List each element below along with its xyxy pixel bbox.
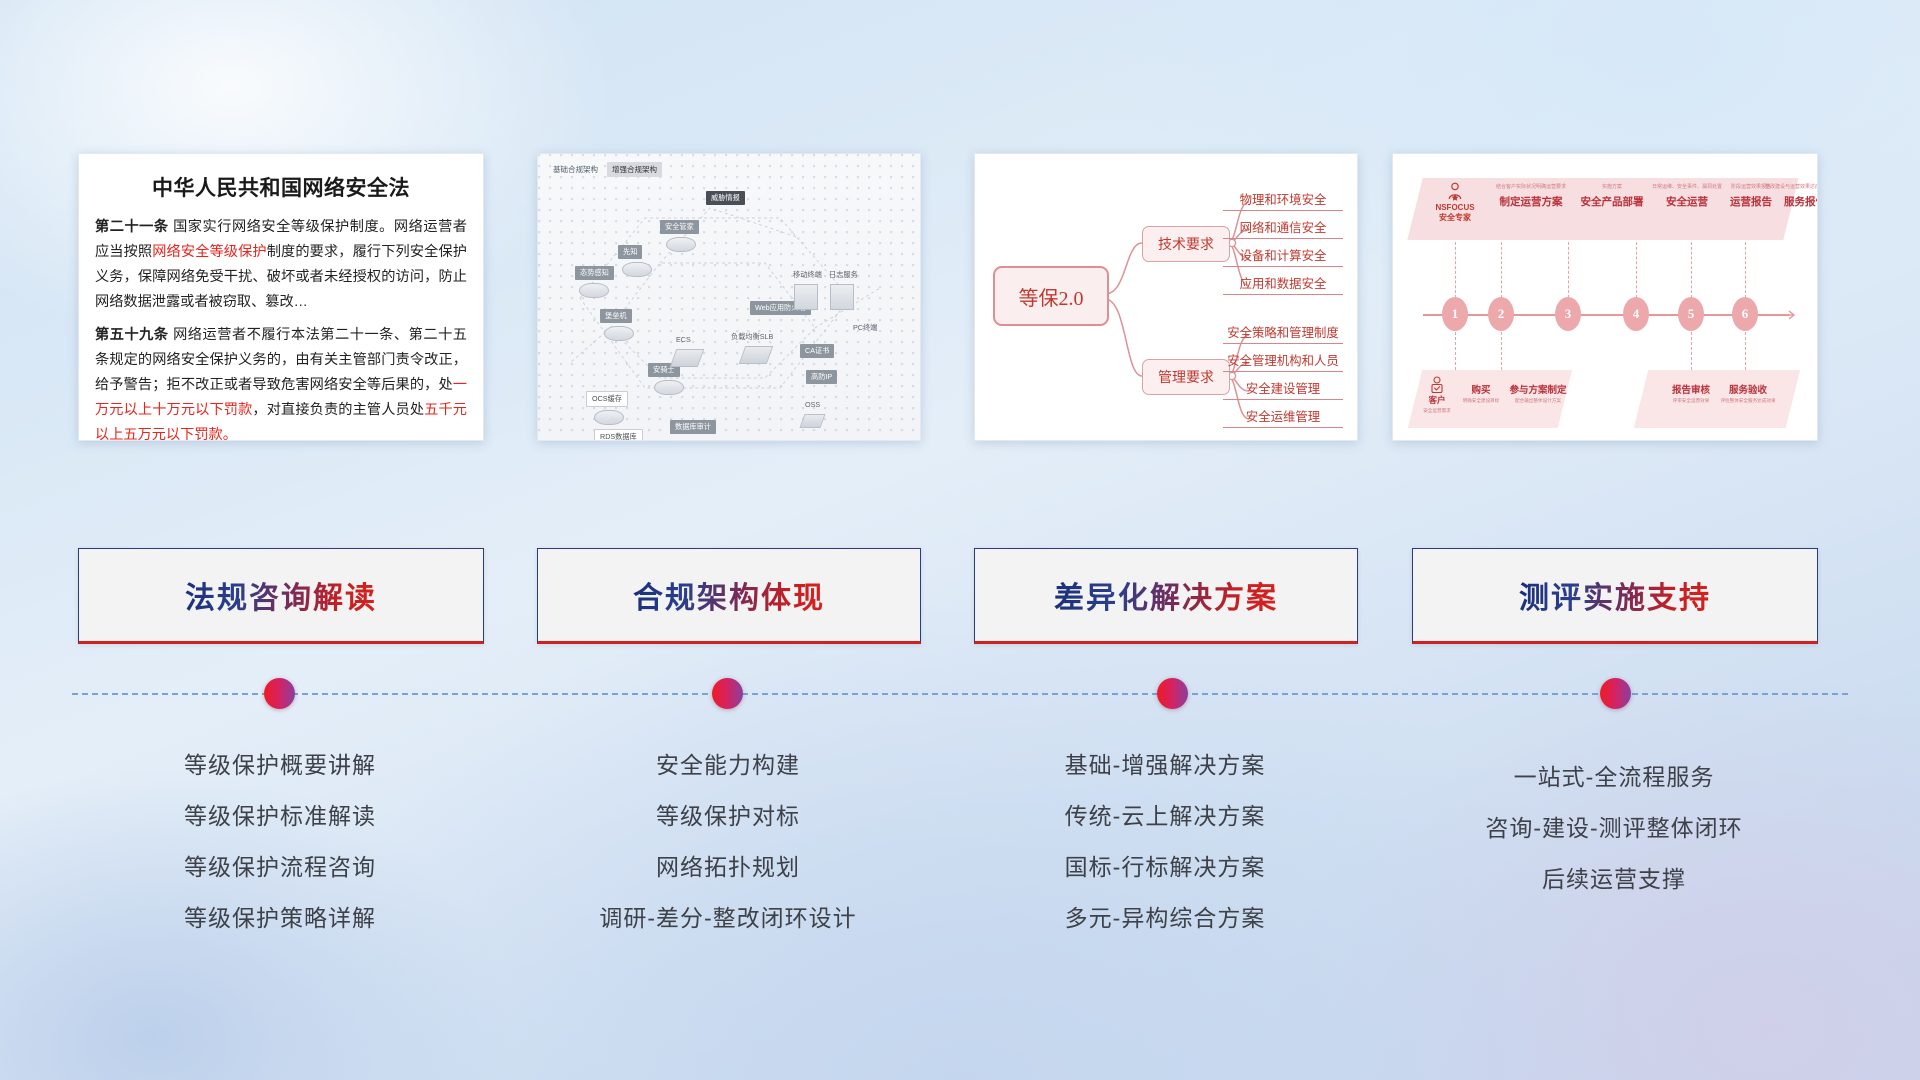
bullet-column-4: 一站式-全流程服务 咨询-建设-测评整体闭环 后续运营支撑 xyxy=(1412,752,1816,905)
list-item: 一站式-全流程服务 xyxy=(1412,752,1816,803)
nsfocus-tie xyxy=(1745,242,1747,298)
arch-node-db-audit: 数据库审计 xyxy=(670,416,716,434)
bullet-column-3: 基础-增强解决方案 传统-云上解决方案 国标-行标解决方案 多元-异构综合方案 xyxy=(974,740,1356,944)
arch-node-log-service: 日志服务 xyxy=(824,264,863,310)
arch-node-ocs-cache: OCS缓存 xyxy=(586,388,628,425)
customer-person-icon xyxy=(1429,376,1445,394)
nsfocus-tray-item: 购买 明确安全建设目标 xyxy=(1455,382,1507,404)
timeline-dot-3 xyxy=(1157,678,1188,709)
arch-node-ca-cert: CA证书 xyxy=(800,340,834,358)
nsfocus-step-dot: 2 xyxy=(1488,297,1514,331)
arch-node-rds-db: RDS数据库 xyxy=(594,426,643,441)
law-paragraph-1: 第二十一条 国家实行网络安全等级保护制度。网络运营者应当按照网络安全等级保护制度… xyxy=(95,215,467,315)
list-item: 调研-差分-整改闭环设计 xyxy=(537,893,919,944)
list-item: 国标-行标解决方案 xyxy=(974,842,1356,893)
nsfocus-tie xyxy=(1691,332,1693,370)
nsfocus-tie xyxy=(1455,332,1457,370)
arch-node-pc-terminal: PC终端 xyxy=(848,317,882,335)
nsfocus-band-step: 整改建设与运营效果达成目标运营效果 服务报告 xyxy=(1765,184,1818,209)
law-article-number: 第二十一条 xyxy=(95,219,169,235)
mindmap-leaf: 安全策略和管理制度 xyxy=(1223,323,1343,344)
mindmap-leaf: 安全建设管理 xyxy=(1223,379,1343,400)
nsfocus-step-dot: 5 xyxy=(1678,297,1704,331)
card-mindmap: 等保2.0 技术要求 管理要求 物理和环境安全 网络和通信安全 设备和计算安全 … xyxy=(974,153,1358,441)
law-article-number: 第五十九条 xyxy=(95,327,169,343)
timeline-dot-2 xyxy=(712,678,743,709)
arch-node-threat-intel: 威胁情报 xyxy=(706,187,745,205)
title-label-2: 合规架构体现 xyxy=(633,573,825,617)
law-body-text: ，对直接负责的主管人员处 xyxy=(252,402,424,418)
mindmap-leaf: 应用和数据安全 xyxy=(1223,274,1343,295)
mindmap-root-node: 等保2.0 xyxy=(993,266,1109,326)
mindmap-canvas: 等保2.0 技术要求 管理要求 物理和环境安全 网络和通信安全 设备和计算安全 … xyxy=(975,154,1357,440)
list-item: 网络拓扑规划 xyxy=(537,842,919,893)
title-label-3: 差异化解决方案 xyxy=(1054,573,1278,617)
card-law-text: 中华人民共和国网络安全法 第二十一条 国家实行网络安全等级保护制度。网络运营者应… xyxy=(78,153,484,441)
nsfocus-tie xyxy=(1455,242,1457,298)
arch-tab-enhanced[interactable]: 增强合规架构 xyxy=(607,162,662,177)
title-box-2[interactable]: 合规架构体现 xyxy=(537,548,921,644)
arch-node-vpc: VPC xyxy=(776,436,801,441)
arch-node-situation-awareness: 态势感知 xyxy=(575,262,614,298)
nsfocus-canvas: NSFOCUS 安全专家 结合客户实际状况明确运营要求 制定运营方案 实施方案 … xyxy=(1393,154,1817,440)
slide-canvas: 中华人民共和国网络安全法 第二十一条 国家实行网络安全等级保护制度。网络运营者应… xyxy=(0,0,1920,1080)
nsfocus-tie xyxy=(1501,332,1503,370)
arch-node-ecs: ECS xyxy=(671,329,701,367)
timeline-dot-1 xyxy=(264,678,295,709)
mindmap-leaf: 网络和通信安全 xyxy=(1223,218,1343,239)
law-emphasis-text: 网络安全等级保护 xyxy=(152,244,267,260)
law-title: 中华人民共和国网络安全法 xyxy=(95,172,467,202)
list-item: 等级保护策略详解 xyxy=(78,893,482,944)
mindmap-branch-technical: 技术要求 xyxy=(1142,226,1230,262)
nsfocus-brand-sub: 安全专家 xyxy=(1427,213,1483,223)
mindmap-branch-management: 管理要求 xyxy=(1142,359,1230,395)
law-paragraph-2: 第五十九条 网络运营者不履行本法第二十一条、第二十五条规定的网络安全保护义务的，… xyxy=(95,323,467,441)
arch-node-xianzhi: 先知 xyxy=(618,241,652,277)
nsfocus-brand-name: NSFOCUS xyxy=(1427,203,1483,213)
architecture-canvas: 基础合规架构 增强合规架构 威胁情报 安全管家 先知 xyxy=(538,154,920,440)
nsfocus-brand: NSFOCUS 安全专家 xyxy=(1427,182,1483,223)
nsfocus-tie xyxy=(1691,242,1693,298)
nsfocus-tie xyxy=(1501,242,1503,298)
bullet-column-1: 等级保护概要讲解 等级保护标准解读 等级保护流程咨询 等级保护策略详解 xyxy=(78,740,482,944)
nsfocus-band-step: 结合客户实际状况明确运营要求 制定运营方案 xyxy=(1489,184,1573,209)
title-box-3[interactable]: 差异化解决方案 xyxy=(974,548,1358,644)
card-nsfocus-timeline: NSFOCUS 安全专家 结合客户实际状况明确运营要求 制定运营方案 实施方案 … xyxy=(1392,153,1818,441)
nsfocus-tie xyxy=(1745,332,1747,370)
nsfocus-tray-item: 参与方案制定 配合输出整体设计方案 xyxy=(1503,382,1573,404)
list-item: 多元-异构综合方案 xyxy=(974,893,1356,944)
title-box-4[interactable]: 测评实施支持 xyxy=(1412,548,1818,644)
arch-node-anti-ddos-ip: 高防IP xyxy=(806,366,837,384)
list-item: 咨询-建设-测评整体闭环 xyxy=(1412,803,1816,854)
nsfocus-tray-item: 服务验收 评估整体安全服务达成效果 xyxy=(1713,382,1783,404)
nsfocus-step-dot: 1 xyxy=(1442,297,1468,331)
list-item: 后续运营支撑 xyxy=(1412,854,1816,905)
nsfocus-step-dot: 6 xyxy=(1732,297,1758,331)
nsfocus-tie xyxy=(1636,242,1638,298)
list-item: 等级保护标准解读 xyxy=(78,791,482,842)
mindmap-leaf: 设备和计算安全 xyxy=(1223,246,1343,267)
expert-person-icon xyxy=(1446,182,1464,202)
architecture-tabs[interactable]: 基础合规架构 增强合规架构 xyxy=(548,162,662,177)
timeline-dashed-line xyxy=(72,693,1848,695)
mindmap-leaf: 物理和环境安全 xyxy=(1223,190,1343,211)
card-architecture-diagram: 基础合规架构 增强合规架构 威胁情报 安全管家 先知 xyxy=(537,153,921,441)
list-item: 安全能力构建 xyxy=(537,740,919,791)
axis-arrow-icon xyxy=(1783,307,1799,323)
arch-node-slb: 负载均衡SLB xyxy=(726,326,778,364)
nsfocus-customer-role: 客户 安全运营需求 xyxy=(1417,376,1457,414)
timeline-dot-4 xyxy=(1600,678,1631,709)
arch-node-security-butler: 安全管家 xyxy=(660,216,699,252)
arch-node-oss: OSS xyxy=(800,394,825,428)
law-body: 中华人民共和国网络安全法 第二十一条 国家实行网络安全等级保护制度。网络运营者应… xyxy=(79,154,483,440)
title-label-1: 法规咨询解读 xyxy=(185,573,377,617)
arch-tab-basic[interactable]: 基础合规架构 xyxy=(548,162,603,177)
nsfocus-band-step: 实施方案 安全产品部署 xyxy=(1570,184,1654,209)
bullet-column-2: 安全能力构建 等级保护对标 网络拓扑规划 调研-差分-整改闭环设计 xyxy=(537,740,919,944)
list-item: 基础-增强解决方案 xyxy=(974,740,1356,791)
mindmap-leaf: 安全管理机构和人员 xyxy=(1223,351,1343,372)
nsfocus-tie xyxy=(1568,242,1570,298)
arch-node-bastion-host: 堡垒机 xyxy=(600,305,634,341)
list-item: 等级保护对标 xyxy=(537,791,919,842)
list-item: 等级保护流程咨询 xyxy=(78,842,482,893)
nsfocus-step-dot: 3 xyxy=(1555,297,1581,331)
arch-node-mobile-terminal: 移动终端 xyxy=(788,264,827,310)
mindmap-leaf: 安全运维管理 xyxy=(1223,407,1343,428)
list-item: 等级保护概要讲解 xyxy=(78,740,482,791)
title-label-4: 测评实施支持 xyxy=(1519,573,1711,617)
title-box-1[interactable]: 法规咨询解读 xyxy=(78,548,484,644)
nsfocus-step-dot: 4 xyxy=(1623,297,1649,331)
list-item: 传统-云上解决方案 xyxy=(974,791,1356,842)
